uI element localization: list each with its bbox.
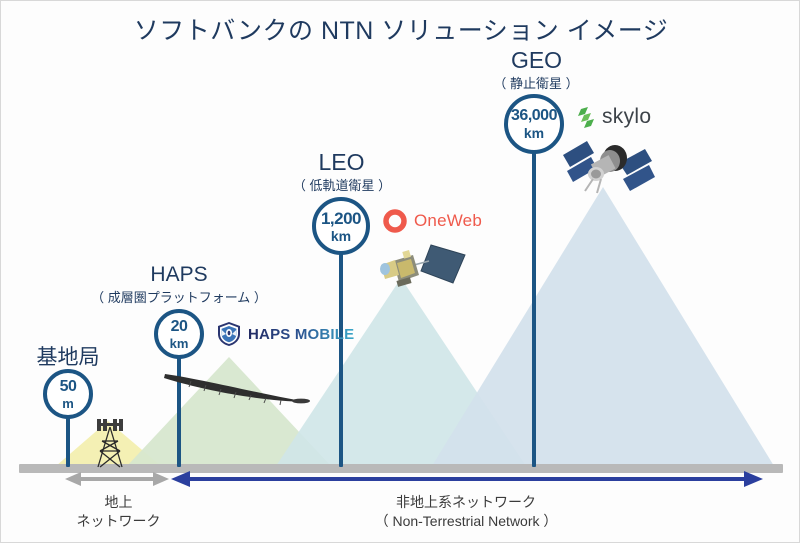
geo-satellite-icon: [557, 129, 661, 211]
infographic-canvas: ソフトバンクの NTN ソリューション イメージ: [0, 0, 800, 543]
terrestrial-network-line1: 地上: [56, 493, 181, 512]
altitude-value-geo: 36,000: [511, 108, 557, 124]
tier-sublabel-leo: （ 低軌道衛星 ）: [276, 175, 408, 194]
tier-sublabel-haps: （ 成層圏プラットフォーム ）: [79, 287, 279, 306]
tier-label-geo: GEO: [479, 47, 594, 74]
tier-label-haps: HAPS: [119, 263, 239, 287]
non-terrestrial-network-line1: 非地上系ネットワーク: [311, 493, 621, 512]
network-range-arrows: [1, 469, 800, 493]
brand-oneweb: OneWeb: [383, 209, 482, 233]
haps-mobile-shield-icon: [216, 321, 242, 347]
pole-geo: [532, 141, 536, 467]
altitude-value-leo: 1,200: [321, 210, 361, 227]
altitude-badge-base-station: 50 m: [43, 369, 93, 419]
altitude-badge-geo: 36,000 km: [504, 94, 564, 154]
non-terrestrial-network-line2: （ Non-Terrestrial Network ）: [311, 512, 621, 531]
altitude-unit-geo: km: [524, 126, 544, 140]
skylo-wordmark: skylo: [602, 105, 651, 129]
altitude-unit-leo: km: [331, 229, 351, 243]
terrestrial-network-label: 地上 ネットワーク: [56, 493, 181, 531]
non-terrestrial-arrow: [171, 471, 763, 487]
oneweb-wordmark: OneWeb: [414, 211, 482, 231]
oneweb-ring-icon: [383, 209, 407, 233]
altitude-badge-haps: 20 km: [154, 309, 204, 359]
brand-skylo: skylo: [577, 105, 651, 129]
terrestrial-arrow: [65, 472, 169, 486]
non-terrestrial-network-label: 非地上系ネットワーク （ Non-Terrestrial Network ）: [311, 493, 621, 531]
geo-mountain: [432, 187, 774, 466]
altitude-unit-haps: km: [170, 337, 189, 350]
haps-aircraft-icon: [161, 369, 311, 409]
leo-satellite-icon: [369, 239, 474, 301]
altitude-value-haps: 20: [171, 319, 188, 335]
altitude-badge-leo: 1,200 km: [312, 197, 370, 255]
tier-label-leo: LEO: [284, 149, 399, 176]
altitude-unit-base-station: m: [62, 397, 74, 410]
pole-leo: [339, 243, 343, 467]
terrestrial-network-line2: ネットワーク: [56, 512, 181, 531]
haps-mobile-wordmark: HAPS MOBILE: [248, 326, 354, 343]
tier-label-base-station: 基地局: [8, 341, 128, 371]
altitude-value-base-station: 50: [60, 379, 77, 395]
skylo-mark-icon: [577, 106, 597, 128]
brand-haps-mobile: HAPS MOBILE: [216, 321, 354, 347]
cell-tower-icon: [89, 417, 131, 469]
tier-sublabel-geo: （ 静止衛星 ）: [483, 73, 589, 92]
pole-base-station: [66, 411, 70, 467]
